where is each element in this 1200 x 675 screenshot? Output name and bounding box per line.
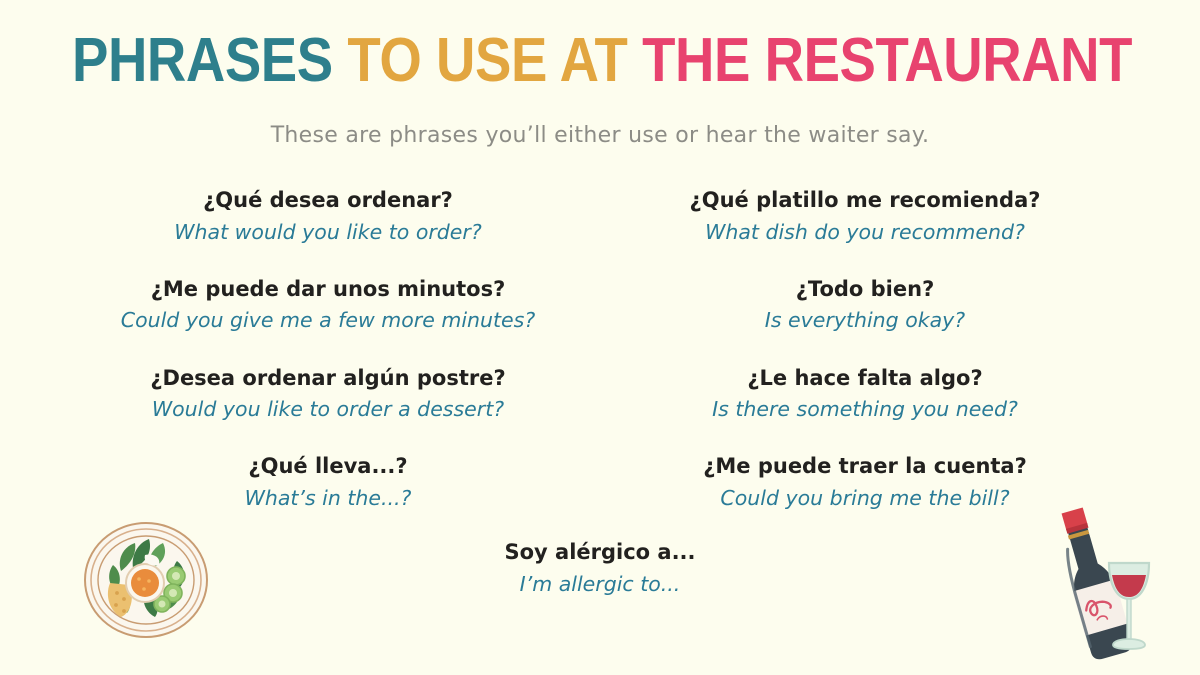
page-subtitle: These are phrases you’ll either use or h… <box>0 123 1200 148</box>
phrase-english: Could you bring me the bill? <box>618 484 1112 512</box>
phrase-english: What’s in the...? <box>74 484 582 512</box>
slide-root: PHRASES TO USE AT THE RESTAURANT These a… <box>0 0 1200 675</box>
phrase-english: Would you like to order a dessert? <box>74 395 582 423</box>
phrase-item: ¿Qué platillo me recomienda? What dish d… <box>618 186 1140 246</box>
phrase-spanish: ¿Qué lleva...? <box>74 452 582 481</box>
phrase-spanish: ¿Todo bien? <box>618 275 1112 304</box>
phrase-english: Could you give me a few more minutes? <box>74 306 582 334</box>
phrase-spanish: ¿Qué platillo me recomienda? <box>618 186 1112 215</box>
phrase-spanish: ¿Me puede dar unos minutos? <box>74 275 582 304</box>
phrase-item: ¿Qué lleva...? What’s in the...? <box>60 452 582 512</box>
title-part-to-use-at: TO USE AT <box>347 26 642 95</box>
phrase-item: ¿Le hace falta algo? Is there something … <box>618 364 1140 424</box>
phrase-english: What dish do you recommend? <box>618 218 1112 246</box>
phrase-spanish: ¿Me puede traer la cuenta? <box>618 452 1112 481</box>
wine-bottle-and-glass-illustration <box>1047 503 1173 663</box>
phrase-english: Is there something you need? <box>618 395 1112 423</box>
phrase-columns: ¿Qué desea ordenar? What would you like … <box>60 186 1140 512</box>
phrase-column-right: ¿Qué platillo me recomienda? What dish d… <box>600 186 1140 512</box>
phrase-spanish: ¿Desea ordenar algún postre? <box>74 364 582 393</box>
phrase-spanish: ¿Le hace falta algo? <box>618 364 1112 393</box>
salad-bowl-illustration <box>83 521 209 639</box>
phrase-item: ¿Qué desea ordenar? What would you like … <box>60 186 582 246</box>
phrase-item: ¿Me puede dar unos minutos? Could you gi… <box>60 275 582 335</box>
phrase-item: ¿Todo bien? Is everything okay? <box>618 275 1140 335</box>
phrase-english: What would you like to order? <box>74 218 582 246</box>
phrase-english: Is everything okay? <box>618 306 1112 334</box>
phrase-item: ¿Desea ordenar algún postre? Would you l… <box>60 364 582 424</box>
page-title: PHRASES TO USE AT THE RESTAURANT <box>72 28 1128 93</box>
title-part-the-restaurant: THE RESTAURANT <box>642 26 1132 95</box>
phrase-spanish: ¿Qué desea ordenar? <box>74 186 582 215</box>
phrase-column-left: ¿Qué desea ordenar? What would you like … <box>60 186 600 512</box>
title-part-phrases: PHRASES <box>72 26 347 95</box>
